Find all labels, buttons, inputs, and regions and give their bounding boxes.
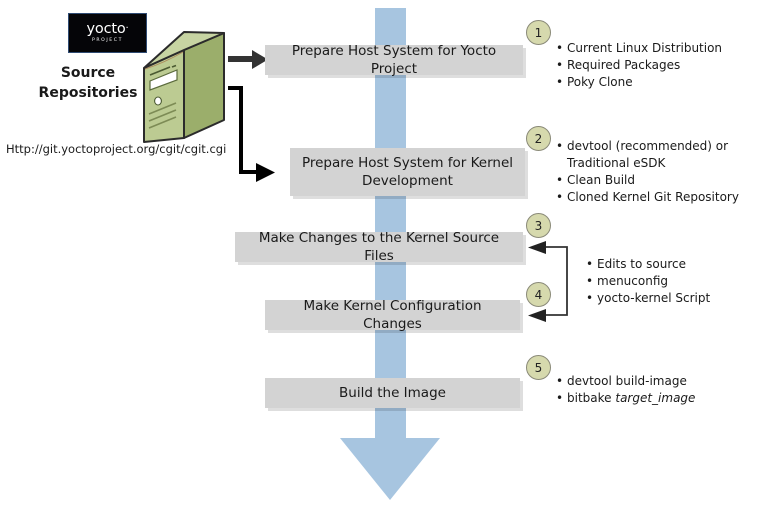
process-box-build-the-image[interactable]: Build the Image (265, 378, 520, 408)
list-item-italic-target: target_image (615, 391, 695, 405)
process-box-label: Prepare Host System for Kernel Developme… (298, 154, 517, 190)
steps-3-4-notes-list: Edits to source menuconfig yocto-kernel … (583, 256, 710, 307)
process-box-label: Prepare Host System for Yocto Project (273, 42, 515, 78)
list-item: Current Linux Distribution (567, 40, 722, 57)
list-item-line2: Traditional eSDK (567, 155, 739, 172)
process-box-label-line1: Prepare Host System for Kernel (302, 155, 513, 171)
step-5-notes: devtool build-image bitbake target_image (553, 373, 695, 407)
step-2-notes: devtool (recommended) or Traditional eSD… (553, 138, 739, 206)
process-box-label-line2: Development (362, 173, 453, 189)
process-box-make-kernel-source-changes[interactable]: Make Changes to the Kernel Source Files (235, 232, 523, 262)
step-1-notes: Current Linux Distribution Required Pack… (553, 40, 722, 91)
process-box-make-kernel-config-changes[interactable]: Make Kernel Configuration Changes (265, 300, 520, 330)
step-number-1: 1 (526, 20, 551, 45)
process-box-prepare-host-yocto[interactable]: Prepare Host System for Yocto Project (265, 45, 523, 75)
step-5-notes-list: devtool build-image bitbake target_image (553, 373, 695, 407)
process-box-label: Build the Image (339, 384, 446, 402)
list-item: Edits to source (597, 256, 710, 273)
list-item: bitbake target_image (567, 390, 695, 407)
list-item: yocto-kernel Script (597, 290, 710, 307)
list-item: menuconfig (597, 273, 710, 290)
step-number-2: 2 (526, 126, 551, 151)
list-item-prefix: bitbake (567, 391, 615, 405)
list-item-line1: devtool (recommended) or (567, 138, 739, 155)
step-1-notes-list: Current Linux Distribution Required Pack… (553, 40, 722, 91)
list-item: Clean Build (567, 172, 739, 189)
step-number-4: 4 (526, 282, 551, 307)
list-item: Cloned Kernel Git Repository (567, 189, 739, 206)
list-item: Required Packages (567, 57, 722, 74)
step-2-notes-list: devtool (recommended) or Traditional eSD… (553, 138, 739, 206)
list-item: devtool (recommended) or Traditional eSD… (567, 138, 739, 172)
list-item: devtool build-image (567, 373, 695, 390)
process-box-label: Make Kernel Configuration Changes (273, 297, 512, 333)
step-number-5: 5 (526, 355, 551, 380)
diagram-canvas: yocto· PROJECT Source Repositories Http:… (0, 0, 769, 517)
steps-3-4-shared-notes: Edits to source menuconfig yocto-kernel … (583, 256, 710, 307)
list-item: Poky Clone (567, 74, 722, 91)
process-box-label: Make Changes to the Kernel Source Files (243, 229, 515, 265)
process-box-prepare-host-kernel[interactable]: Prepare Host System for Kernel Developme… (290, 148, 525, 196)
step-number-3: 3 (526, 213, 551, 238)
